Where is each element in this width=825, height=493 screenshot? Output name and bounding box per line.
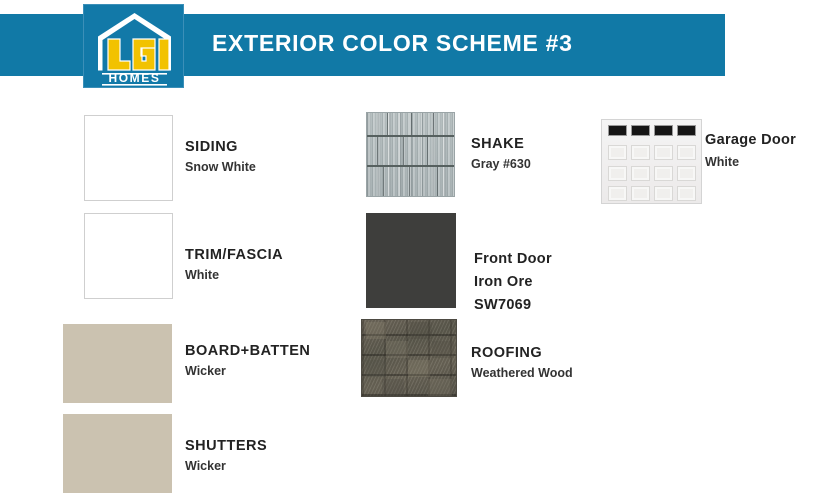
roofing-title: ROOFING xyxy=(471,343,573,363)
garage-panel xyxy=(608,145,627,160)
svg-text:HOMES: HOMES xyxy=(108,71,160,85)
garage-panel xyxy=(631,186,650,201)
board-batten-subtitle: Wicker xyxy=(185,361,310,381)
swatch-garage-door xyxy=(601,119,702,204)
garage-panel xyxy=(654,186,673,201)
swatch-trim-fascia xyxy=(84,213,173,299)
trim-fascia-title: TRIM/FASCIA xyxy=(185,245,283,265)
swatch-roofing xyxy=(361,319,457,397)
garage-panel xyxy=(608,166,627,181)
swatch-front-door xyxy=(366,213,456,308)
swatch-siding xyxy=(84,115,173,201)
logo-mark-icon: HOMES xyxy=(84,5,185,89)
garage-panel xyxy=(608,186,627,201)
garage-panel xyxy=(677,186,696,201)
garage-panel xyxy=(654,145,673,160)
swatch-shutters xyxy=(63,414,172,493)
swatch-shake xyxy=(366,112,455,197)
siding-subtitle: Snow White xyxy=(185,157,256,177)
page-title: EXTERIOR COLOR SCHEME #3 xyxy=(212,30,573,57)
front-door-subtitle: Iron Ore xyxy=(474,271,552,294)
garage-panel xyxy=(677,145,696,160)
label-board-batten: BOARD+BATTEN Wicker xyxy=(185,341,310,381)
label-garage-door: Garage Door White xyxy=(705,129,796,172)
board-batten-title: BOARD+BATTEN xyxy=(185,341,310,361)
garage-window xyxy=(654,125,673,136)
label-front-door: Front Door Iron Ore SW7069 xyxy=(474,248,552,317)
front-door-code: SW7069 xyxy=(474,294,552,317)
swatch-board-batten xyxy=(63,324,172,403)
label-siding: SIDING Snow White xyxy=(185,137,256,177)
shutters-title: SHUTTERS xyxy=(185,436,267,456)
front-door-title: Front Door xyxy=(474,248,552,271)
garage-door-title: Garage Door xyxy=(705,129,796,152)
trim-fascia-subtitle: White xyxy=(185,265,283,285)
label-shake: SHAKE Gray #630 xyxy=(471,134,531,174)
label-roofing: ROOFING Weathered Wood xyxy=(471,343,573,383)
garage-window xyxy=(677,125,696,136)
roofing-subtitle: Weathered Wood xyxy=(471,363,573,383)
label-shutters: SHUTTERS Wicker xyxy=(185,436,267,476)
garage-panel xyxy=(654,166,673,181)
garage-window xyxy=(608,125,627,136)
siding-title: SIDING xyxy=(185,137,256,157)
garage-door-subtitle: White xyxy=(705,152,796,172)
garage-panel xyxy=(631,166,650,181)
garage-panel xyxy=(677,166,696,181)
garage-window xyxy=(631,125,650,136)
garage-panel xyxy=(631,145,650,160)
shake-subtitle: Gray #630 xyxy=(471,154,531,174)
shutters-subtitle: Wicker xyxy=(185,456,267,476)
shake-title: SHAKE xyxy=(471,134,531,154)
label-trim-fascia: TRIM/FASCIA White xyxy=(185,245,283,285)
lgi-homes-logo: HOMES xyxy=(83,4,184,88)
